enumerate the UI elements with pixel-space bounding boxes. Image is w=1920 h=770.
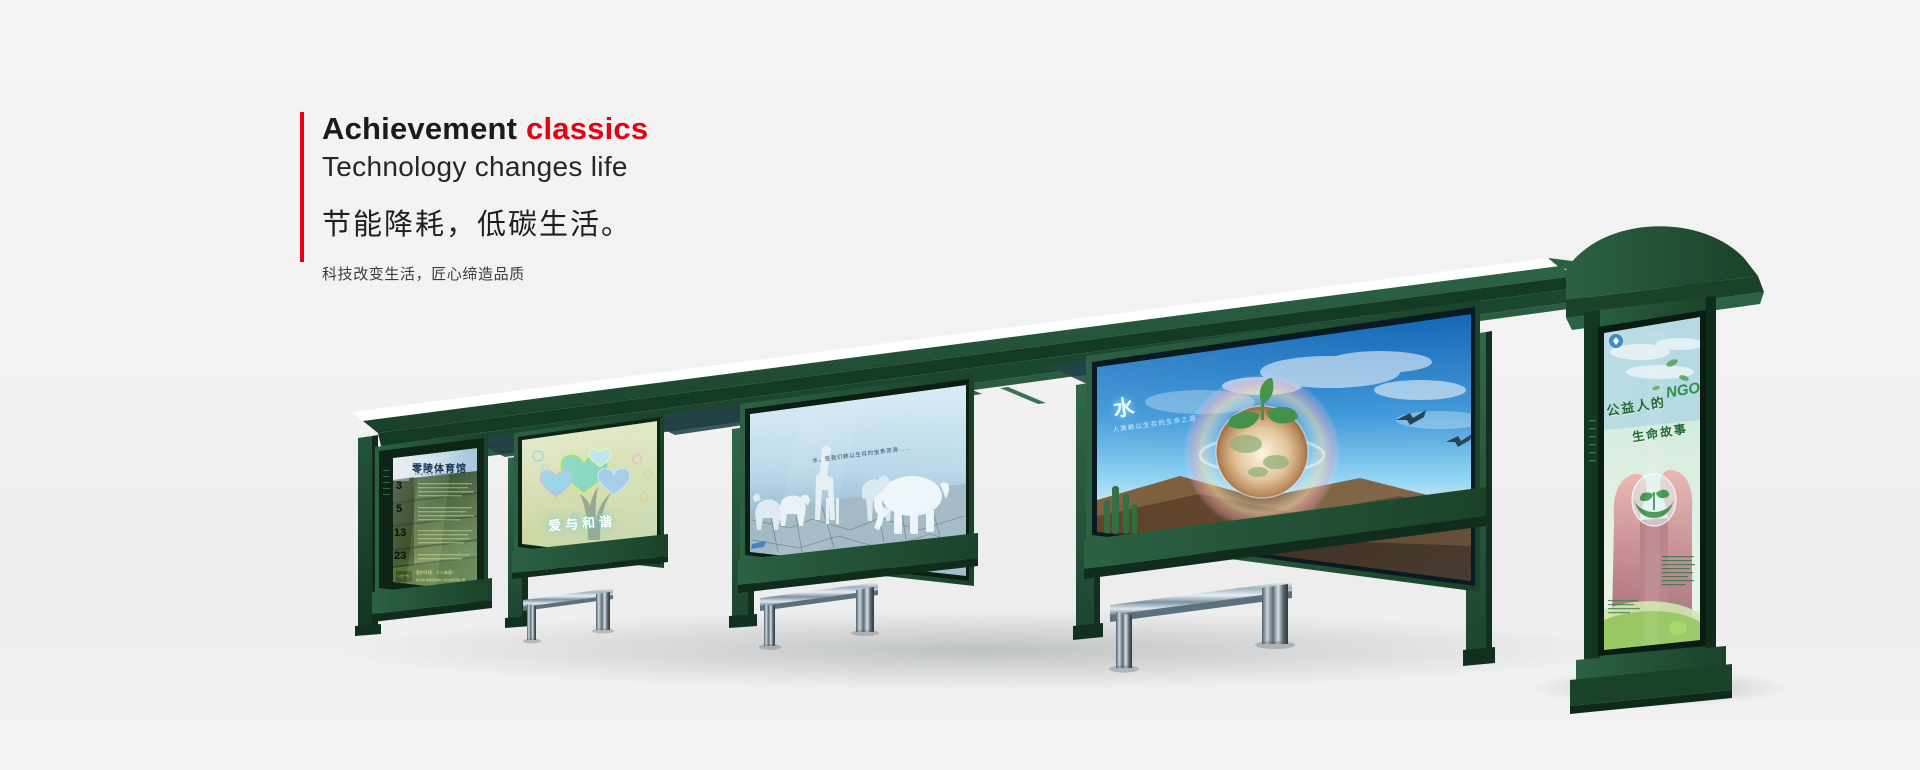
bus-shelter-illustration [0,0,1920,770]
schedule-lightbox[interactable] [372,433,492,622]
lightbox-love-harmony[interactable] [512,412,668,579]
tower-lightbox[interactable] [1566,226,1764,714]
promo-banner: Achievement classics Technology changes … [0,0,1920,770]
lightbox-save-water[interactable] [738,373,978,593]
